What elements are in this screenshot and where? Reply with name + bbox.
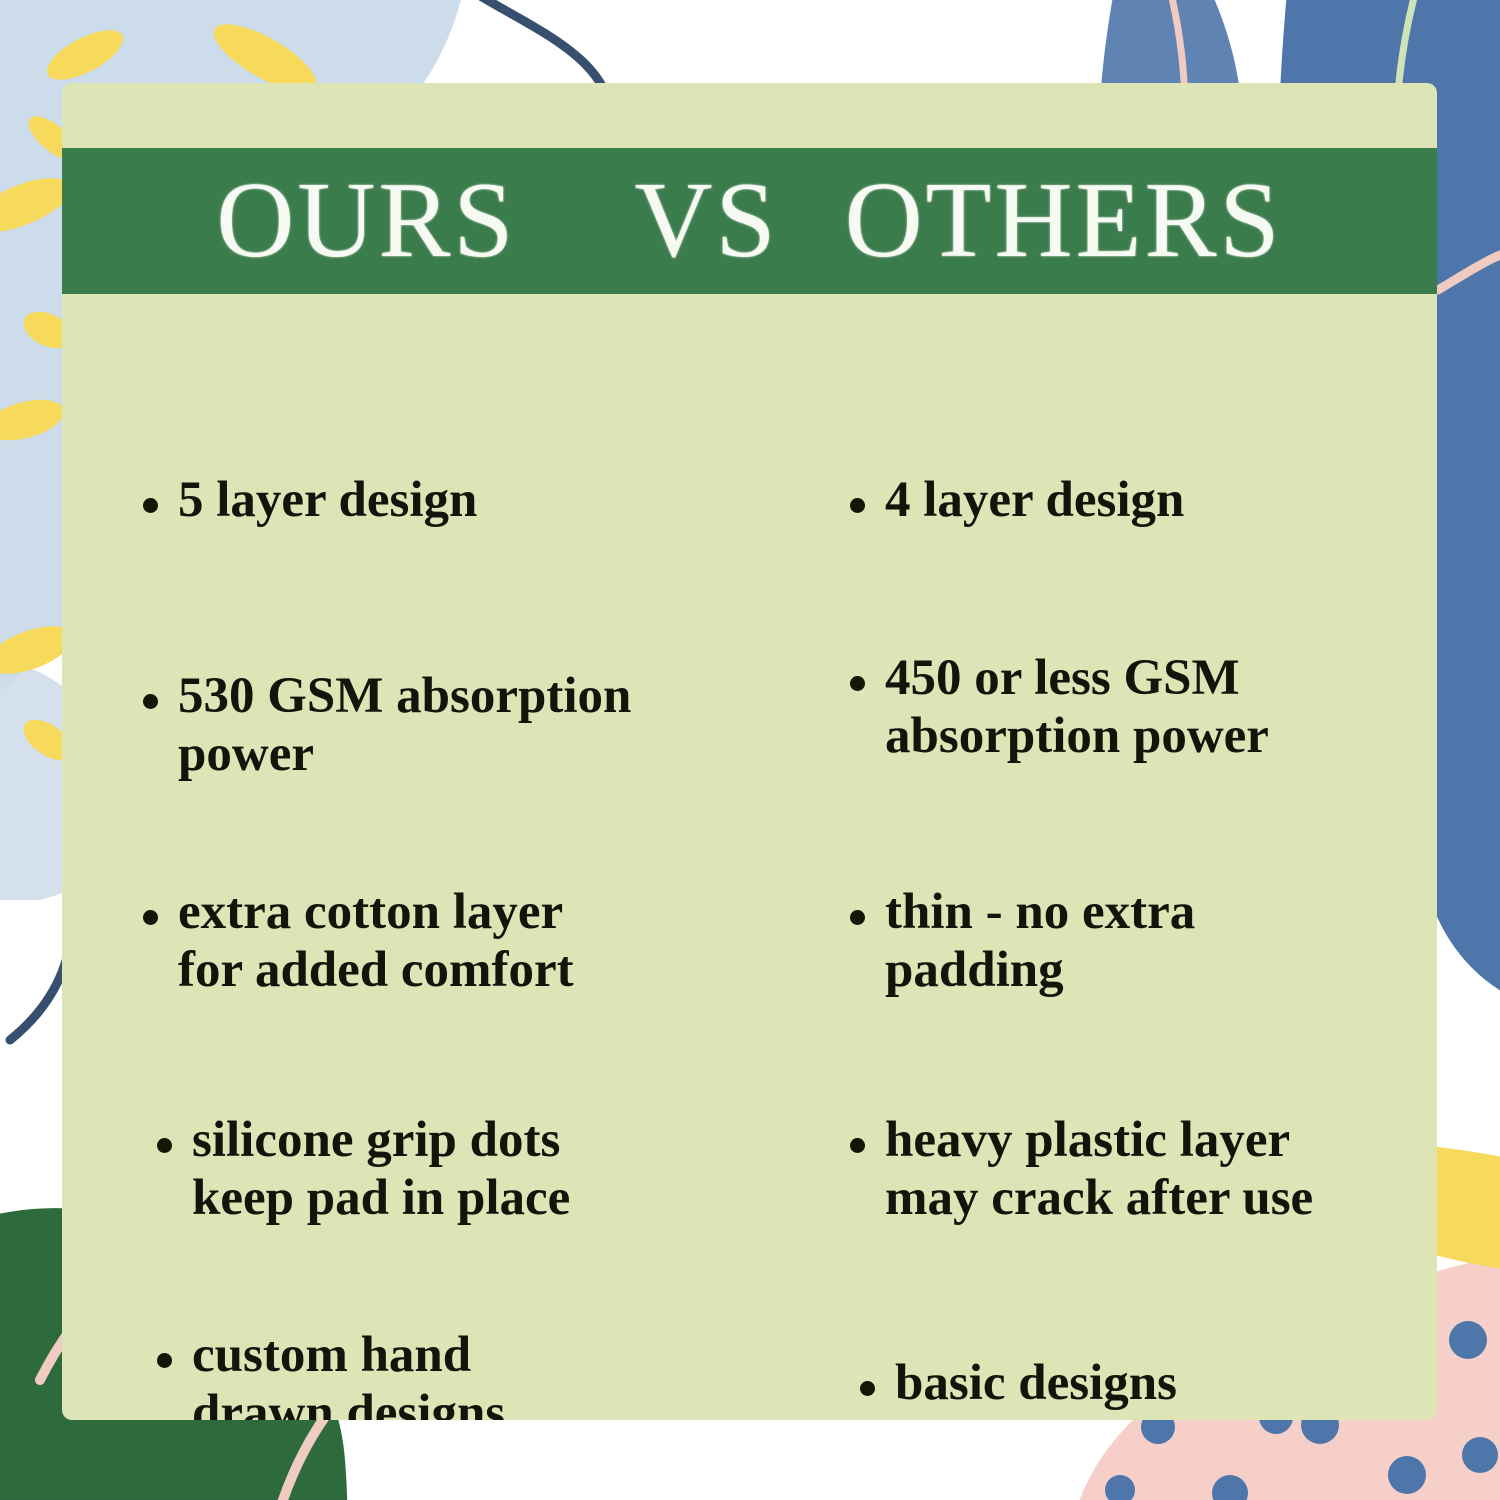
bullet-dot-icon [850, 498, 865, 513]
others-item-2: 450 or less GSM absorption power [850, 650, 1269, 765]
others-item-4-text: heavy plastic layer may crack after use [885, 1112, 1313, 1227]
ours-item-4: silicone grip dots keep pad in place [157, 1112, 570, 1227]
bullet-dot-icon [157, 1138, 172, 1153]
bullet-dot-icon [143, 694, 158, 709]
comparison-columns: 5 layer design 530 GSM absorption power … [62, 294, 1437, 1420]
comparison-card: OURS VS OTHERS 5 layer design 530 GSM ab… [62, 83, 1437, 1420]
ours-item-4-text: silicone grip dots keep pad in place [192, 1112, 570, 1227]
ours-item-1-text: 5 layer design [178, 472, 477, 530]
ours-item-2: 530 GSM absorption power [143, 668, 631, 783]
ours-item-5-text: custom hand drawn designs [192, 1327, 505, 1420]
title-row: OURS VS OTHERS [216, 167, 1282, 275]
others-item-1-text: 4 layer design [885, 472, 1184, 530]
ours-item-2-text: 530 GSM absorption power [178, 668, 631, 783]
others-item-3: thin - no extra padding [850, 884, 1195, 999]
ours-item-3: extra cotton layer for added comfort [143, 884, 574, 999]
bullet-dot-icon [143, 498, 158, 513]
bullet-dot-icon [157, 1353, 172, 1368]
bullet-dot-icon [850, 910, 865, 925]
ours-item-5: custom hand drawn designs [157, 1327, 505, 1420]
others-item-5: basic designs [860, 1355, 1177, 1413]
others-item-5-text: basic designs [895, 1355, 1177, 1413]
column-ours: 5 layer design 530 GSM absorption power … [62, 294, 762, 1420]
column-others: 4 layer design 450 or less GSM absorptio… [762, 294, 1437, 1420]
title-ours: OURS [216, 167, 516, 275]
title-band: OURS VS OTHERS [62, 148, 1437, 294]
ours-item-3-text: extra cotton layer for added comfort [178, 884, 574, 999]
bullet-dot-icon [860, 1381, 875, 1396]
others-item-3-text: thin - no extra padding [885, 884, 1195, 999]
ours-item-1: 5 layer design [143, 472, 477, 530]
title-others: OTHERS [845, 167, 1283, 275]
others-item-4: heavy plastic layer may crack after use [850, 1112, 1313, 1227]
others-item-2-text: 450 or less GSM absorption power [885, 650, 1269, 765]
bullet-dot-icon [143, 910, 158, 925]
bullet-dot-icon [850, 1138, 865, 1153]
infographic-canvas: OURS VS OTHERS 5 layer design 530 GSM ab… [0, 0, 1500, 1500]
others-item-1: 4 layer design [850, 472, 1184, 530]
bullet-dot-icon [850, 676, 865, 691]
title-vs: VS [635, 167, 779, 275]
